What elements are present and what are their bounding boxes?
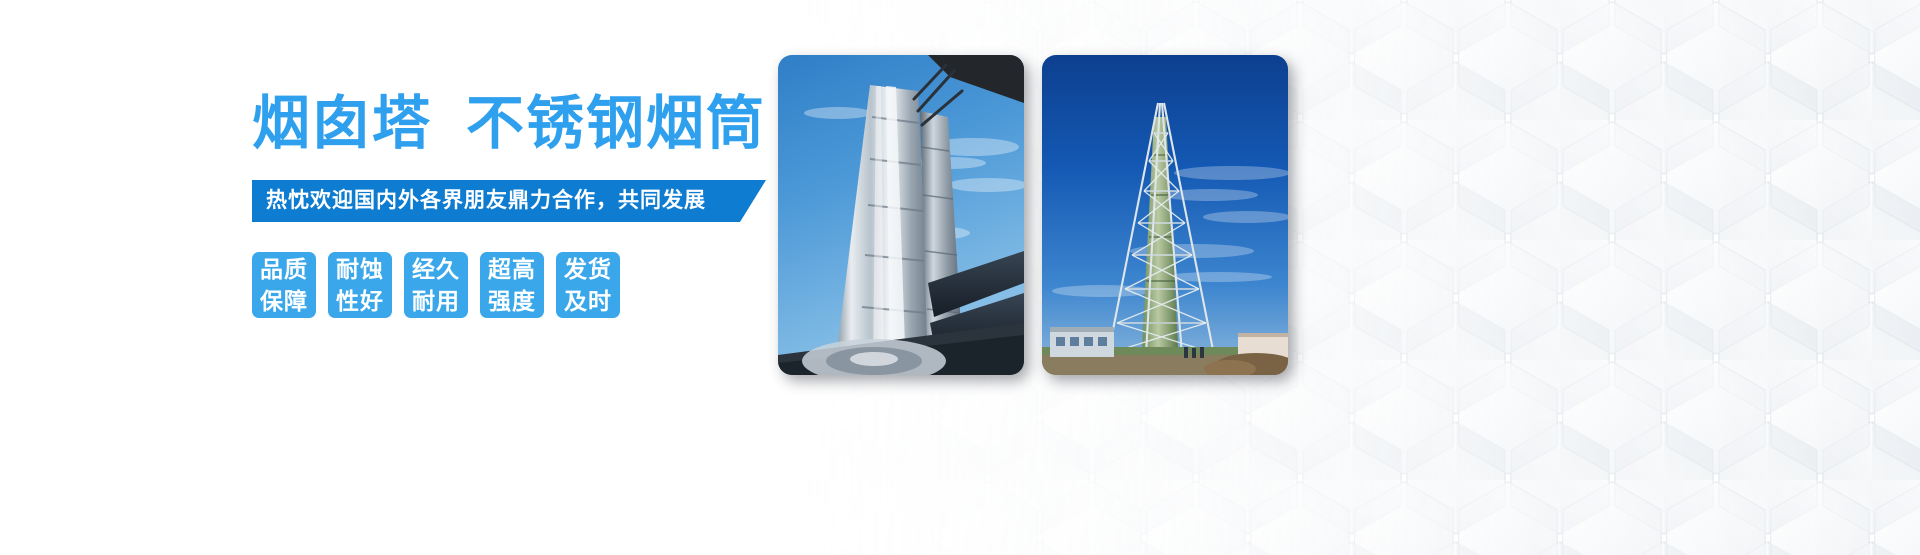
slogan-text: 热忱欢迎国内外各界朋友鼎力合作，共同发展	[266, 189, 706, 212]
photo-card-lattice-tower-chimney[interactable]	[1042, 55, 1288, 375]
feature-badge-durability[interactable]: 经久 耐用	[404, 252, 468, 318]
feature-badge-corrosion-resistance[interactable]: 耐蚀 性好	[328, 252, 392, 318]
slogan-ribbon: 热忱欢迎国内外各界朋友鼎力合作，共同发展	[252, 180, 740, 222]
badge-line-2: 耐用	[412, 285, 460, 317]
badge-line-1: 超高	[488, 253, 536, 285]
feature-badge-fast-delivery[interactable]: 发货 及时	[556, 252, 620, 318]
feature-badge-list: 品质 保障 耐蚀 性好 经久 耐用 超高 强度 发货 及时	[252, 252, 772, 318]
feature-badge-quality[interactable]: 品质 保障	[252, 252, 316, 318]
title-part-one: 烟囱塔	[252, 89, 432, 157]
title-part-two: 不锈钢烟筒	[466, 89, 766, 157]
badge-line-2: 及时	[564, 285, 612, 317]
feature-badge-high-strength[interactable]: 超高 强度	[480, 252, 544, 318]
badge-line-1: 耐蚀	[336, 253, 384, 285]
promo-banner: 烟囱塔不锈钢烟筒 热忱欢迎国内外各界朋友鼎力合作，共同发展 品质 保障 耐蚀 性…	[0, 0, 1920, 555]
photo-card-stainless-steel-chimney-stack[interactable]	[778, 55, 1024, 375]
badge-line-1: 经久	[412, 253, 460, 285]
headline-block: 烟囱塔不锈钢烟筒 热忱欢迎国内外各界朋友鼎力合作，共同发展 品质 保障 耐蚀 性…	[252, 88, 772, 318]
badge-line-2: 性好	[336, 285, 384, 317]
page-title: 烟囱塔不锈钢烟筒	[252, 88, 772, 158]
badge-line-2: 强度	[488, 285, 536, 317]
badge-line-2: 保障	[260, 285, 308, 317]
badge-line-1: 发货	[564, 253, 612, 285]
badge-line-1: 品质	[260, 253, 308, 285]
